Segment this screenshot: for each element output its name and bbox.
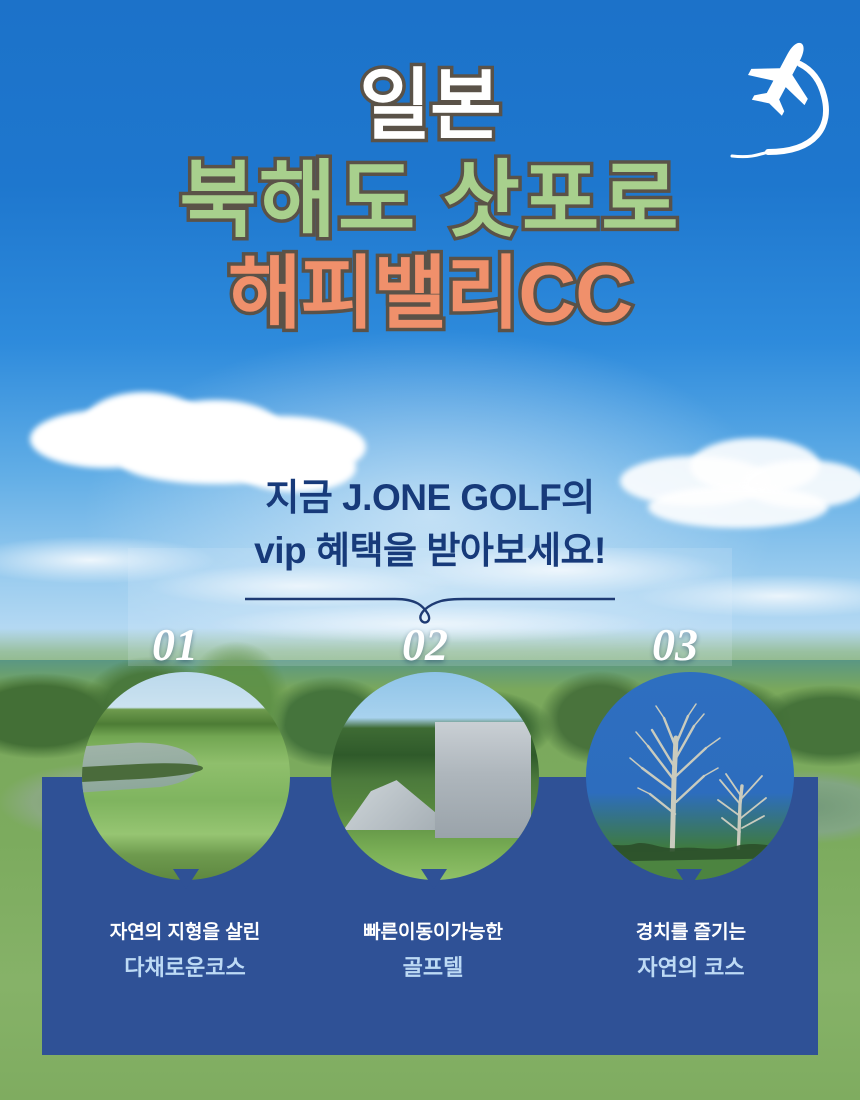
title-line-2: 북해도 삿포로 — [0, 158, 860, 242]
subtitle-block: 지금 J.ONE GOLF의 vip 혜택을 받아보세요! — [0, 472, 860, 577]
feature-caption-bottom-02: 골프텔 — [308, 952, 558, 983]
feature-caption-top-01: 자연의 지형을 살린 — [60, 920, 310, 947]
subtitle-line-1: 지금 J.ONE GOLF의 — [0, 472, 860, 525]
feature-caption-bottom-01: 다채로운코스 — [60, 952, 310, 983]
feature-caption-bottom-03: 자연의 코스 — [566, 952, 816, 983]
subtitle-line2-tail: 을 받아보세요! — [383, 530, 606, 571]
subtitle-benefit-highlight: 혜택 — [316, 530, 383, 571]
feature-caption-02: 빠른이동이가능한 골프텔 — [308, 920, 558, 983]
feature-number-02: 02 — [402, 618, 448, 671]
feature-caption-03: 경치를 즐기는 자연의 코스 — [566, 920, 816, 983]
feature-photo-01 — [82, 672, 290, 880]
subtitle-line-2: vip 혜택을 받아보세요! — [0, 525, 860, 578]
feature-number-03: 03 — [652, 618, 698, 671]
title-line-1: 일본 — [0, 66, 860, 144]
feature-number-01: 01 — [152, 618, 198, 671]
feature-photo-02 — [331, 672, 539, 880]
feature-caption-top-02: 빠른이동이가능한 — [308, 920, 558, 947]
title-line-3: 해피밸리CC — [0, 254, 860, 334]
poster-canvas: 일본 북해도 삿포로 해피밸리CC 지금 J.ONE GOLF의 vip 혜택을… — [0, 0, 860, 1100]
poster-title: 일본 북해도 삿포로 해피밸리CC — [0, 66, 860, 334]
feature-caption-top-03: 경치를 즐기는 — [566, 920, 816, 947]
feature-photo-03 — [586, 672, 794, 880]
feature-caption-01: 자연의 지형을 살린 다채로운코스 — [60, 920, 310, 983]
subtitle-vip-label: vip — [254, 530, 316, 571]
